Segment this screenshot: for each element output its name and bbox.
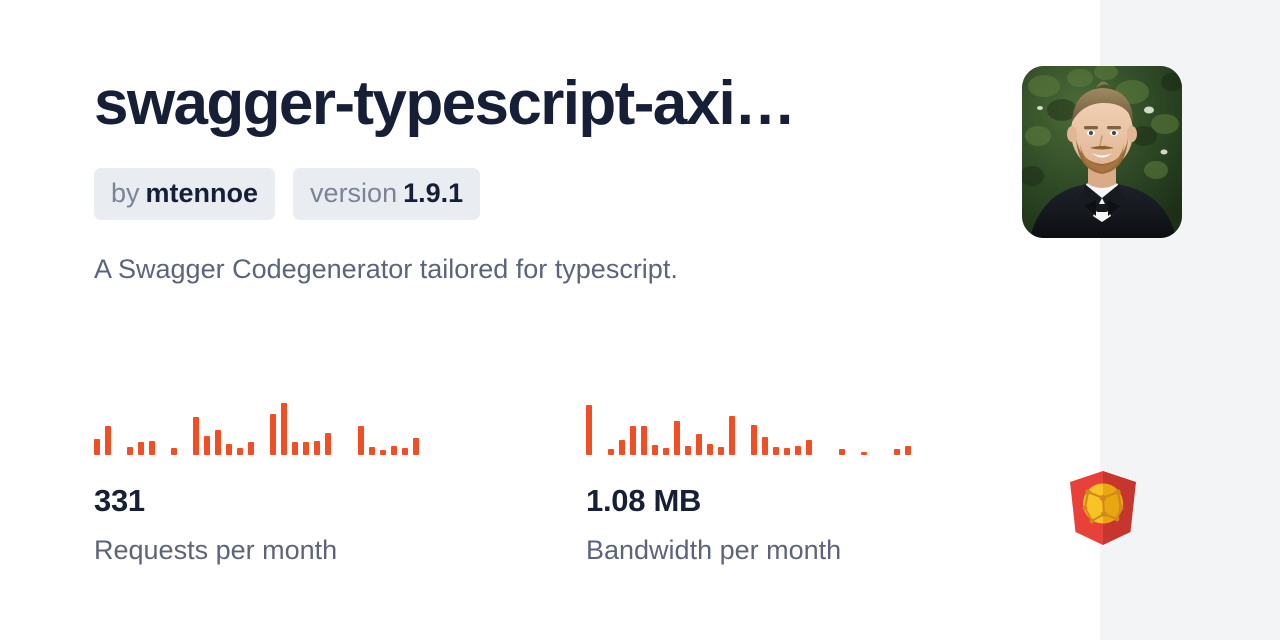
sparkline-bar: [149, 441, 155, 455]
version-badge-label: version: [310, 178, 397, 208]
sparkline-bar: [413, 438, 419, 455]
sparkline-bar: [663, 448, 669, 455]
version-badge-value: 1.9.1: [403, 178, 463, 208]
sparkline-bar: [369, 447, 375, 455]
sparkline-bar: [325, 433, 331, 455]
bandwidth-sparkline: [586, 400, 906, 455]
sparkline-bar: [685, 446, 691, 455]
sparkline-bar: [784, 448, 790, 455]
author-badge: bymtennoe: [94, 168, 275, 220]
sparkline-bar: [204, 436, 210, 455]
sparkline-bar: [751, 425, 757, 455]
stats-row: 331 Requests per month 1.08 MB Bandwidth…: [94, 400, 1078, 567]
sparkline-bar: [773, 447, 779, 455]
sparkline-bar: [795, 446, 801, 455]
sparkline-bar: [674, 421, 680, 455]
sparkline-bar: [905, 446, 911, 455]
badge-group: bymtennoe version1.9.1: [94, 168, 480, 220]
bandwidth-stat-label: Bandwidth per month: [586, 533, 1078, 567]
bandwidth-stat: 1.08 MB Bandwidth per month: [586, 400, 1078, 567]
sparkline-bar: [762, 437, 768, 455]
sparkline-bar: [402, 448, 408, 455]
version-badge: version1.9.1: [293, 168, 480, 220]
sparkline-bar: [292, 442, 298, 455]
jsdelivr-package-card: swagger-typescript-axi… bymtennoe versio…: [0, 0, 1280, 640]
author-badge-label: by: [111, 178, 140, 208]
sparkline-bar: [226, 444, 232, 455]
sparkline-bar: [619, 440, 625, 455]
sparkline-bar: [248, 442, 254, 455]
sparkline-bar: [608, 449, 614, 455]
requests-sparkline: [94, 400, 414, 455]
sparkline-bar: [237, 448, 243, 455]
sparkline-bar: [94, 439, 100, 455]
sparkline-bar: [303, 442, 309, 455]
sparkline-bar: [586, 405, 592, 455]
sparkline-bar: [806, 440, 812, 455]
sparkline-bar: [696, 434, 702, 455]
sparkline-bar: [707, 444, 713, 455]
sparkline-bar: [138, 442, 144, 455]
sparkline-bar: [729, 416, 735, 455]
sparkline-bar: [215, 430, 221, 455]
sparkline-bar: [314, 441, 320, 455]
jsdelivr-logo: [1068, 470, 1138, 546]
author-badge-value: mtennoe: [146, 178, 259, 208]
sparkline-bar: [281, 403, 287, 455]
sparkline-bar: [193, 417, 199, 455]
sparkline-bar: [839, 449, 845, 455]
requests-stat-value: 331: [94, 483, 586, 519]
sparkline-bar: [894, 449, 900, 455]
bandwidth-stat-value: 1.08 MB: [586, 483, 1078, 519]
page-title: swagger-typescript-axi…: [94, 66, 795, 142]
sparkline-bar: [127, 447, 133, 455]
sparkline-bar: [641, 426, 647, 455]
sparkline-bar: [380, 450, 386, 455]
sparkline-bar: [391, 446, 397, 455]
requests-stat: 331 Requests per month: [94, 400, 586, 567]
sparkline-bar: [105, 426, 111, 455]
sparkline-bar: [171, 448, 177, 455]
sparkline-bar: [630, 426, 636, 455]
requests-stat-label: Requests per month: [94, 533, 586, 567]
sparkline-bar: [358, 426, 364, 455]
avatar: [1022, 66, 1182, 238]
package-content: swagger-typescript-axi… bymtennoe versio…: [94, 0, 994, 640]
sparkline-bar: [652, 445, 658, 455]
sparkline-bar: [718, 447, 724, 455]
package-description: A Swagger Codegenerator tailored for typ…: [94, 250, 678, 288]
sparkline-bar: [861, 452, 867, 455]
sparkline-bar: [270, 414, 276, 455]
